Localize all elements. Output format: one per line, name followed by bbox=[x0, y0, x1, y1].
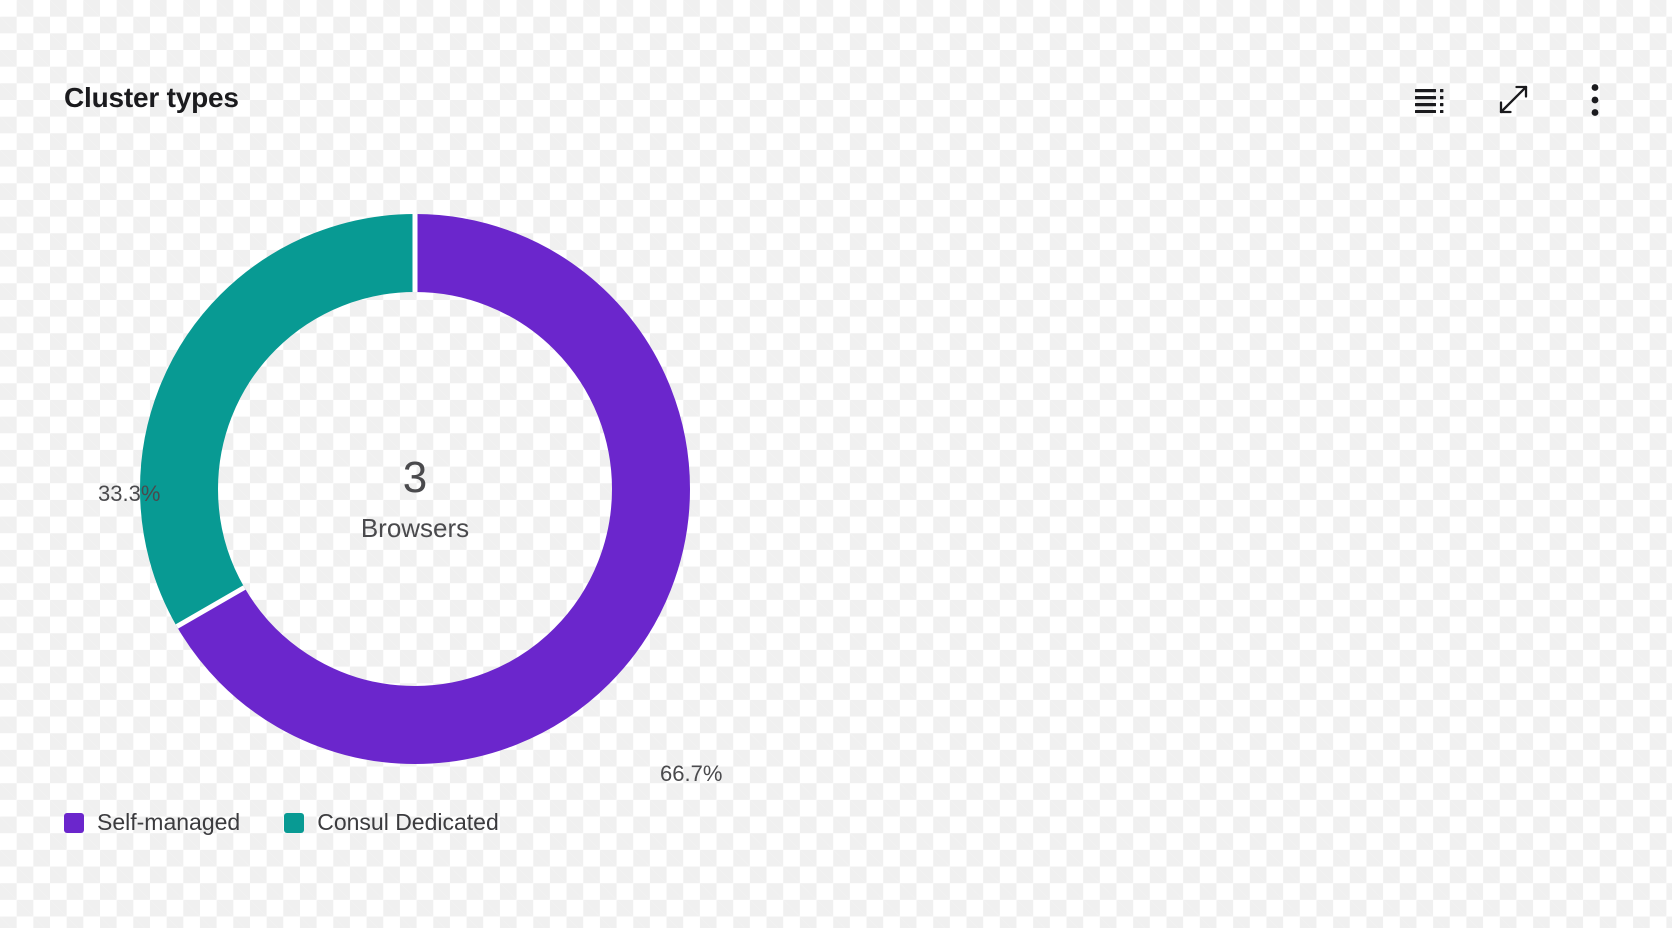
header-actions bbox=[1410, 80, 1616, 124]
more-options-button[interactable] bbox=[1574, 80, 1616, 124]
data-table-icon bbox=[1415, 87, 1447, 118]
legend-swatch-self-managed bbox=[64, 813, 84, 833]
donut-chart: 3 Browsers bbox=[139, 213, 691, 765]
legend-label-self-managed: Self-managed bbox=[97, 809, 240, 836]
donut-center-label: Browsers bbox=[139, 515, 691, 541]
legend-item-self-managed[interactable]: Self-managed bbox=[64, 809, 240, 836]
slice-percent-label-consul-dedicated: 33.3% bbox=[98, 481, 160, 507]
slice-percent-label-self-managed: 66.7% bbox=[660, 761, 722, 787]
chart-area: 3 Browsers 33.3% 66.7% bbox=[0, 150, 1672, 820]
widget-header: Cluster types bbox=[0, 0, 1672, 150]
expand-icon bbox=[1497, 84, 1529, 121]
legend-swatch-consul-dedicated bbox=[284, 813, 304, 833]
more-options-icon bbox=[1590, 83, 1600, 122]
data-table-button[interactable] bbox=[1410, 80, 1452, 124]
legend-item-consul-dedicated[interactable]: Consul Dedicated bbox=[284, 809, 499, 836]
expand-button[interactable] bbox=[1492, 80, 1534, 124]
donut-center-value: 3 bbox=[139, 456, 691, 500]
legend-label-consul-dedicated: Consul Dedicated bbox=[317, 809, 499, 836]
page-title: Cluster types bbox=[64, 82, 239, 114]
chart-legend: Self-managed Consul Dedicated bbox=[64, 809, 499, 836]
